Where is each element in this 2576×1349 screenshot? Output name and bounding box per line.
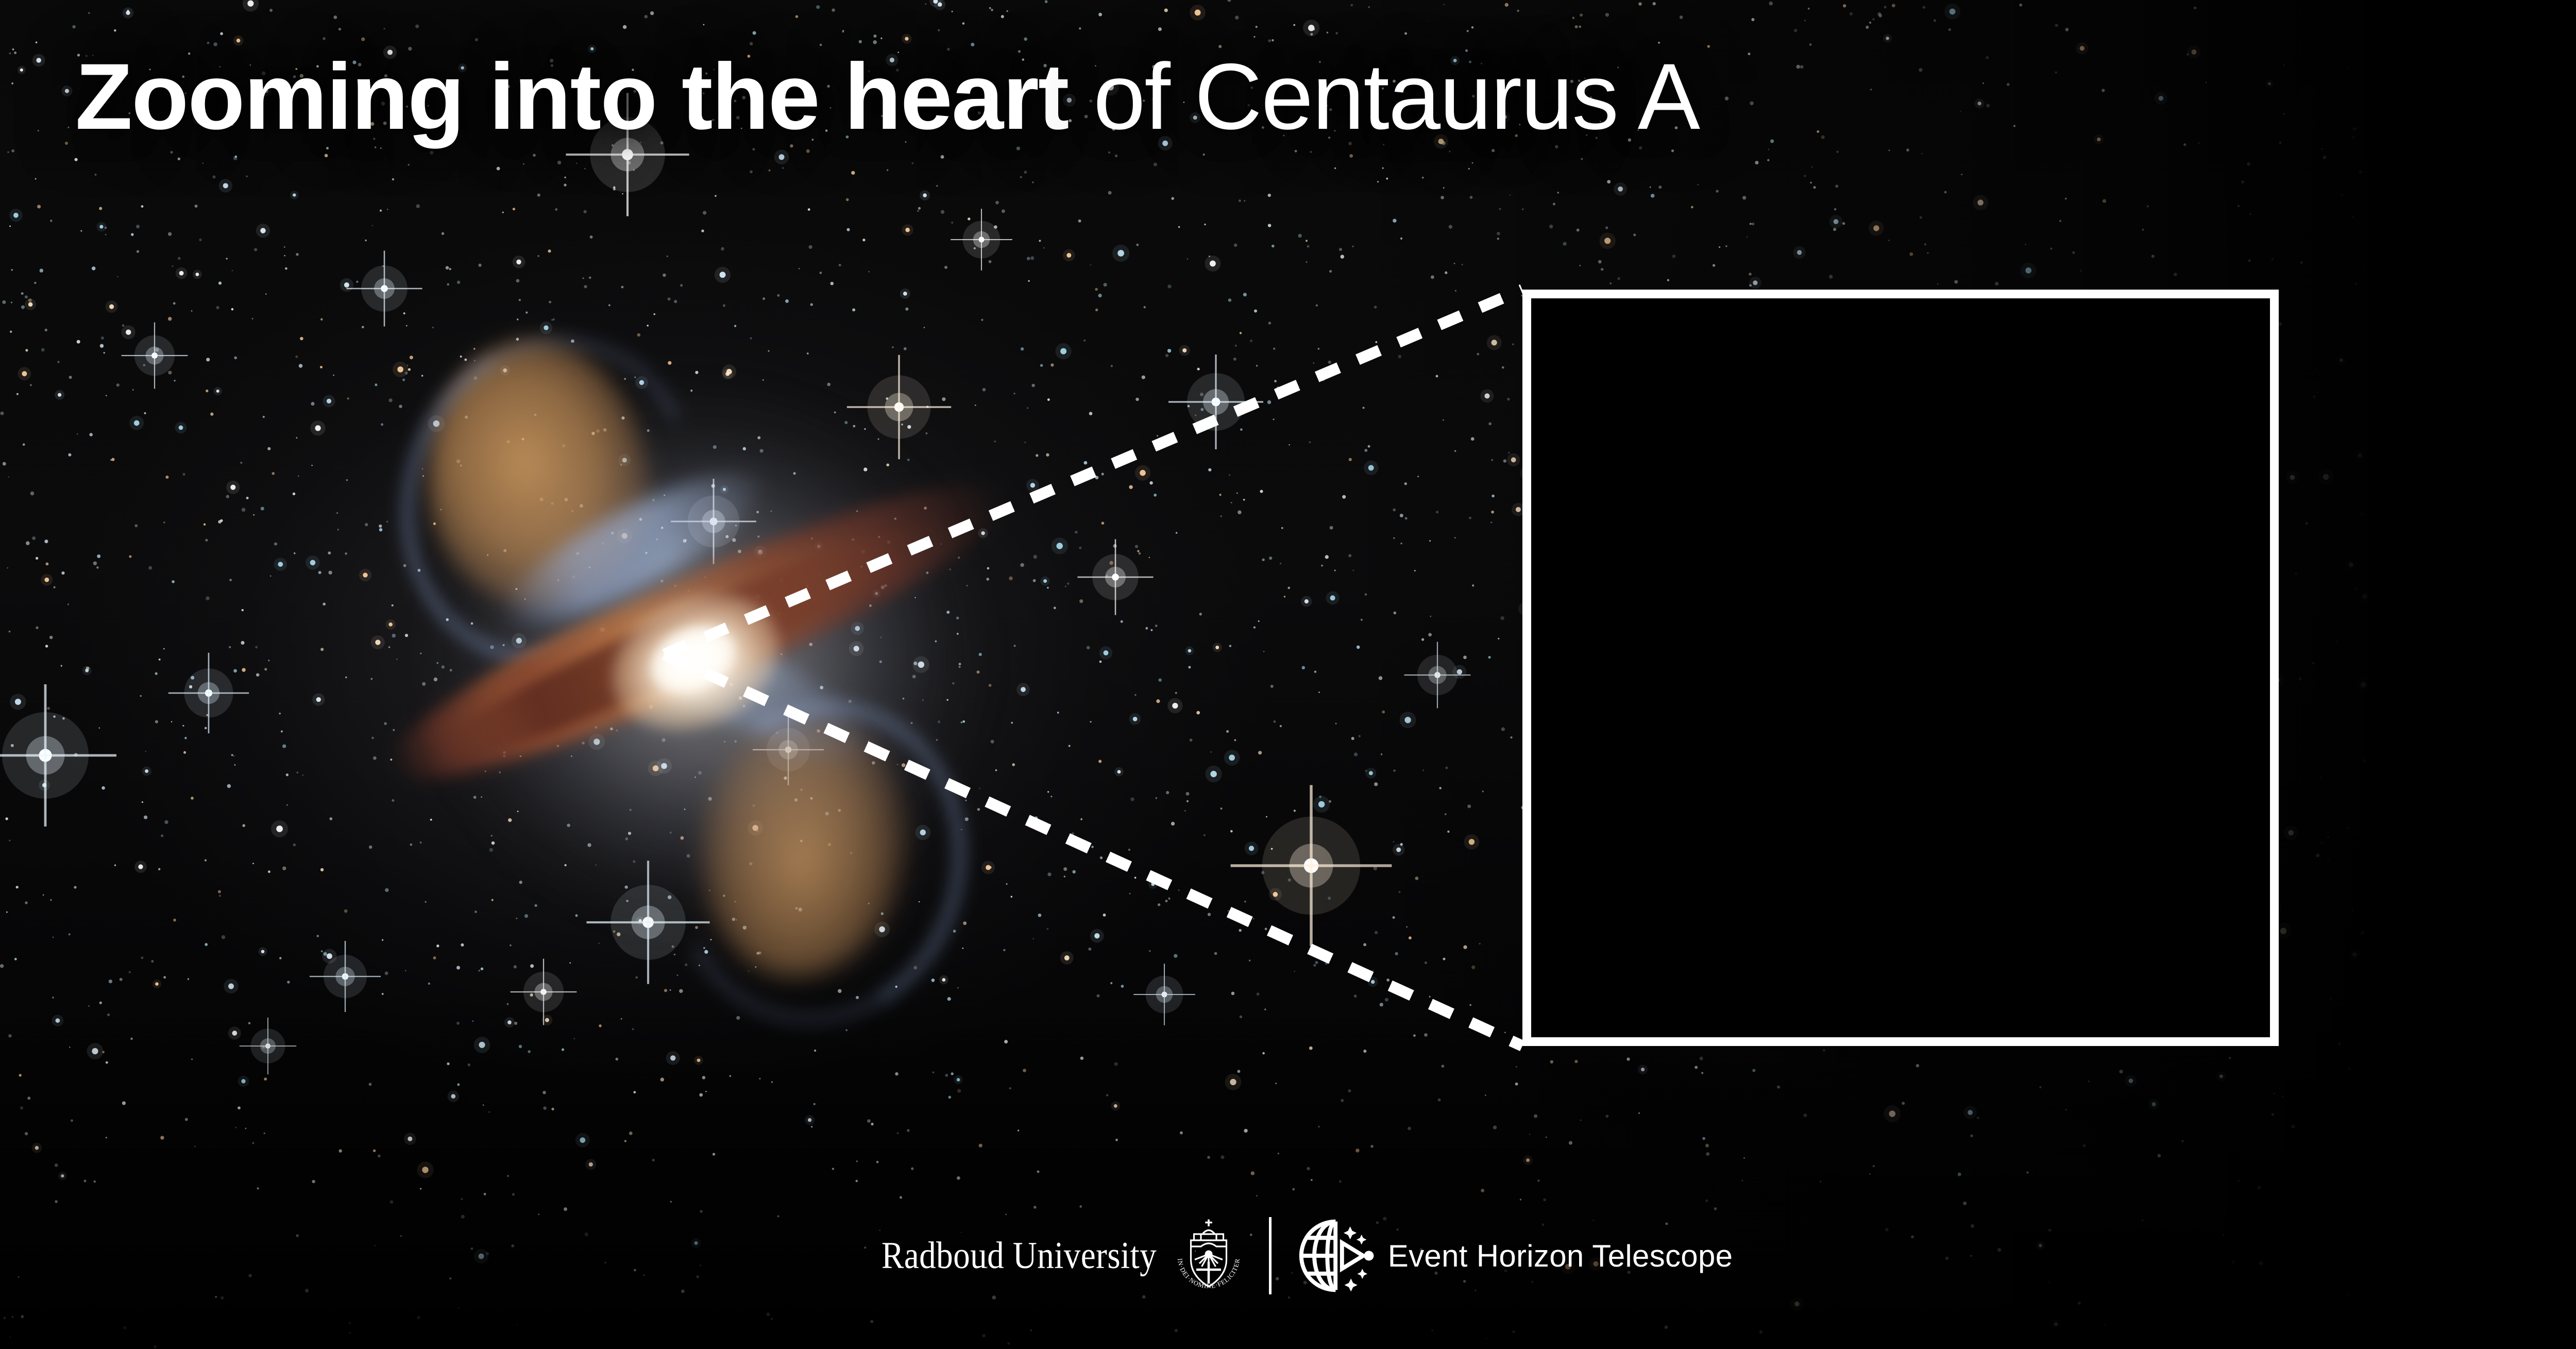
footer-logos: Radboud University [0, 1212, 2576, 1300]
radboud-logo[interactable]: Radboud University [844, 1217, 1247, 1294]
eht-inset-frame [1522, 290, 2279, 1046]
title-bold: Zooming into the heart [75, 44, 1069, 149]
poster-canvas: Zooming into the heart of Centaurus A Ra… [0, 0, 2576, 1349]
galaxy-centaurus-a [319, 289, 1092, 1036]
title-light: of Centaurus A [1069, 44, 1700, 149]
radboud-crest-icon: IN·DEI·NOMINE·FELICITER [1170, 1217, 1247, 1294]
radboud-wordmark: Radboud University [882, 1234, 1157, 1278]
page-title: Zooming into the heart of Centaurus A [75, 47, 1699, 146]
eht-jet-image [1531, 298, 2270, 1037]
logo-divider [1269, 1217, 1272, 1294]
eht-logo[interactable]: Event Horizon Telescope [1293, 1215, 1733, 1296]
eht-globe-icon [1293, 1215, 1375, 1296]
eht-wordmark: Event Horizon Telescope [1388, 1238, 1733, 1274]
